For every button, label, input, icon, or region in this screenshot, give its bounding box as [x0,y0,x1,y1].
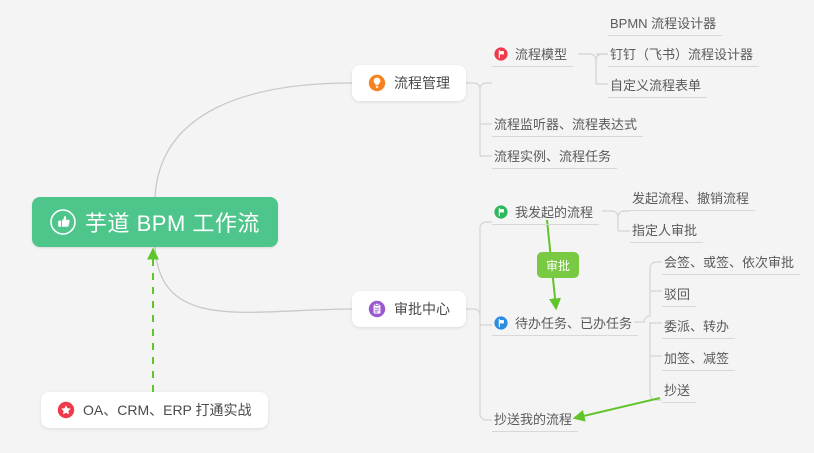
mindmap-canvas: 芋道 BPM 工作流 流程管理 流程模型 BPMN 流程设计器 钉钉（飞书）流程 [0,0,814,453]
node-todo-done-tasks[interactable]: 待办任务、已办任务 [492,310,638,336]
link-root-to-process-management [155,83,352,197]
thumbs-up-icon [50,209,76,235]
node-label: 流程实例、流程任务 [494,146,611,165]
node-label: 指定人审批 [632,220,697,239]
annotation-arrow-cc [575,398,660,418]
branch-approval-center[interactable]: 审批中心 [352,291,466,327]
lightbulb-icon [368,74,386,92]
node-assignee-approval[interactable]: 指定人审批 [630,217,703,243]
star-icon [57,401,75,419]
root-label: 芋道 BPM 工作流 [85,206,260,238]
node-delegate-transfer[interactable]: 委派、转办 [662,313,735,339]
approval-tag-label: 审批 [546,257,570,274]
node-label: 会签、或签、依次审批 [664,252,794,271]
link-ac-vertical-up [480,222,492,315]
link-todo-bracket [634,262,662,322]
node-my-initiated-process[interactable]: 我发起的流程 [492,199,599,225]
flag-icon [494,205,508,219]
node-cc-to-me-process[interactable]: 抄送我的流程 [492,406,578,432]
node-instance-task[interactable]: 流程实例、流程任务 [492,143,617,169]
node-custom-process-form[interactable]: 自定义流程表单 [608,72,707,98]
node-bpmn-designer[interactable]: BPMN 流程设计器 [608,10,722,36]
node-cc[interactable]: 抄送 [662,377,696,403]
node-reject[interactable]: 驳回 [662,281,696,307]
node-label: 委派、转办 [664,316,729,335]
link-pmodel-to-bpmn [596,54,608,60]
node-start-cancel-process[interactable]: 发起流程、撤销流程 [630,185,755,211]
branch-label: 流程管理 [394,73,450,93]
link-todo-down [650,322,662,400]
branch-process-management[interactable]: 流程管理 [352,65,466,101]
flag-icon [494,316,508,330]
integration-card[interactable]: OA、CRM、ERP 打通实战 [41,392,268,428]
node-add-remove-sign[interactable]: 加签、减签 [662,345,735,371]
node-label: 抄送我的流程 [494,409,572,428]
flag-icon [494,47,508,61]
link-root-to-approval-center [155,247,352,312]
node-label: 待办任务、已办任务 [515,313,632,332]
link-pm-to-process-model [480,83,492,89]
node-label: 流程监听器、流程表达式 [494,114,637,133]
node-dingtalk-feishu-designer[interactable]: 钉钉（飞书）流程设计器 [608,41,759,67]
link-process-model-bracket [578,54,596,84]
node-listener-expression[interactable]: 流程监听器、流程表达式 [492,111,643,137]
node-label: 加签、减签 [664,348,729,367]
node-label: 我发起的流程 [515,202,593,221]
node-label: 抄送 [664,380,690,399]
branch-label: 审批中心 [394,299,450,319]
node-label: 发起流程、撤销流程 [632,188,749,207]
integration-card-label: OA、CRM、ERP 打通实战 [83,400,252,420]
clipboard-icon [368,300,386,318]
root-node[interactable]: 芋道 BPM 工作流 [32,197,278,247]
node-counter-or-sequential-sign[interactable]: 会签、或签、依次审批 [662,249,800,275]
node-label: 钉钉（飞书）流程设计器 [610,44,753,63]
link-approval-center-bracket [462,309,492,420]
node-process-model[interactable]: 流程模型 [492,41,573,67]
node-label: 流程模型 [515,44,567,63]
approval-tag: 审批 [537,252,579,278]
link-my-initiated-bracket [602,211,618,231]
node-label: BPMN 流程设计器 [610,13,716,32]
node-label: 自定义流程表单 [610,75,701,94]
link-mi-to-start [618,211,630,217]
node-label: 驳回 [664,284,690,303]
